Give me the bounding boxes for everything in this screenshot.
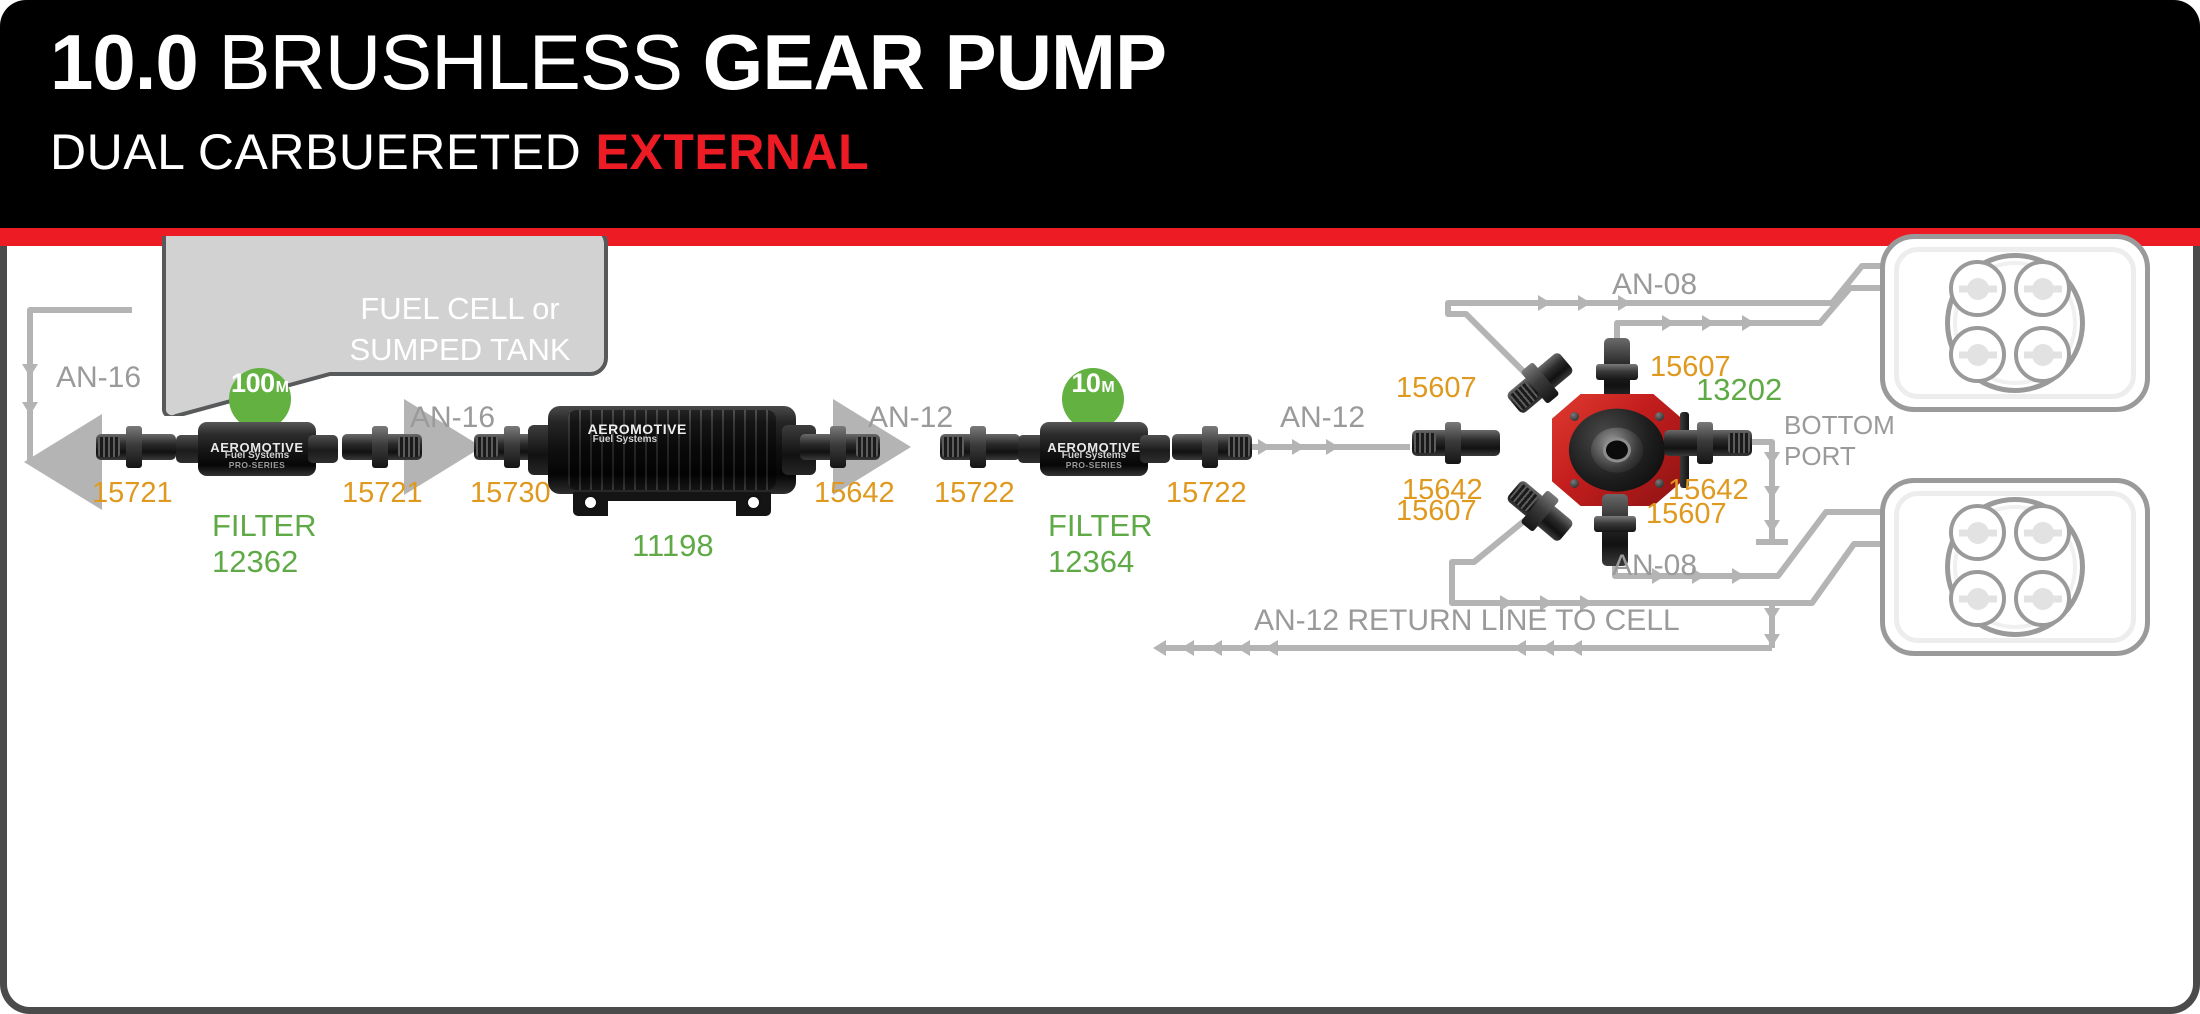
part-number-15721-outlet: 15721 — [342, 477, 423, 510]
filter-12364-number: 12364 — [1048, 544, 1134, 580]
part-number-13202: 13202 — [1696, 372, 1782, 408]
filter-12364-series: PRO-SERIES — [1066, 460, 1122, 470]
part-number-15607-upper-left: 15607 — [1396, 372, 1477, 405]
fitting-15642-reg-outlet — [1664, 422, 1752, 464]
fitting-15721-inlet — [96, 426, 176, 468]
carburetor-top — [1880, 234, 2150, 412]
fuel-cell-label: FUEL CELL or SUMPED TANK — [330, 288, 590, 370]
diagram-canvas: FUEL CELL or SUMPED TANK AN-16 100M 1572… — [0, 246, 2200, 1014]
title-number: 10.0 — [50, 18, 198, 106]
fuel-cell-label-line2: SUMPED TANK — [330, 329, 590, 370]
carburetor-bottom — [1880, 478, 2150, 656]
label-filter-outlet-an12: AN-12 — [1280, 401, 1365, 435]
fitting-15722-outlet — [1172, 426, 1252, 468]
part-number-15642-pump-out: 15642 — [814, 477, 895, 510]
label-return-line: AN-12 RETURN LINE TO CELL — [1254, 604, 1680, 638]
filter-12362: AEROMOTIVE Fuel Systems PRO-SERIES — [172, 422, 342, 476]
filter-12364: AEROMOTIVE Fuel Systems PRO-SERIES — [1014, 422, 1174, 476]
fitting-15642-reg-inlet — [1412, 422, 1500, 464]
micron-badge-10: 10M — [1062, 368, 1124, 430]
subtitle-text: DUAL CARBUERETED — [50, 124, 581, 180]
label-bottom-port-line2: PORT — [1784, 441, 1904, 472]
micron-badge-100-value: 100 — [231, 368, 275, 399]
part-number-15722-inlet: 15722 — [934, 477, 1015, 510]
part-number-15730: 15730 — [470, 477, 551, 510]
filter-12364-word: FILTER — [1048, 508, 1153, 544]
header-banner: 10.0 BRUSHLESS GEAR PUMP DUAL CARBUERETE… — [0, 0, 2200, 228]
part-number-15607-lower-left: 15607 — [1396, 495, 1477, 528]
filter-12362-series: PRO-SERIES — [229, 460, 285, 470]
regulator-13202 — [1552, 394, 1682, 506]
fitting-15722-inlet — [940, 426, 1020, 468]
pump-11198-brand-sub: Fuel Systems — [593, 434, 657, 445]
label-carb-feed-bottom-an08: AN-08 — [1612, 549, 1697, 583]
micron-badge-100-unit: M — [276, 379, 289, 397]
part-number-15721-inlet: 15721 — [92, 477, 173, 510]
part-number-15722-outlet: 15722 — [1166, 477, 1247, 510]
filter-12362-word: FILTER — [212, 508, 317, 544]
title-main: BRUSHLESS — [218, 18, 682, 106]
title-main-2: GEAR PUMP — [703, 18, 1166, 106]
diagram-page: 10.0 BRUSHLESS GEAR PUMP DUAL CARBUERETE… — [0, 0, 2200, 1014]
micron-badge-10-value: 10 — [1071, 368, 1100, 399]
micron-badge-10-unit: M — [1101, 379, 1114, 397]
filter-12362-number: 12362 — [212, 544, 298, 580]
page-subtitle: DUAL CARBUERETED EXTERNAL — [50, 126, 869, 178]
fuel-cell-label-line1: FUEL CELL or — [330, 288, 590, 329]
micron-badge-100: 100M — [229, 368, 291, 430]
page-title: 10.0 BRUSHLESS GEAR PUMP — [50, 22, 1166, 102]
pump-11198: AEROMOTIVE Fuel Systems — [548, 406, 796, 494]
pump-11198-number: 11198 — [632, 528, 714, 564]
subtitle-external: EXTERNAL — [596, 124, 869, 180]
label-bottom-port: BOTTOM PORT — [1784, 410, 1904, 472]
label-carb-feed-top-an08: AN-08 — [1612, 268, 1697, 302]
label-inlet-an16: AN-16 — [56, 361, 141, 395]
label-bottom-port-line1: BOTTOM — [1784, 410, 1904, 441]
part-number-15607-bottom: 15607 — [1646, 498, 1727, 531]
